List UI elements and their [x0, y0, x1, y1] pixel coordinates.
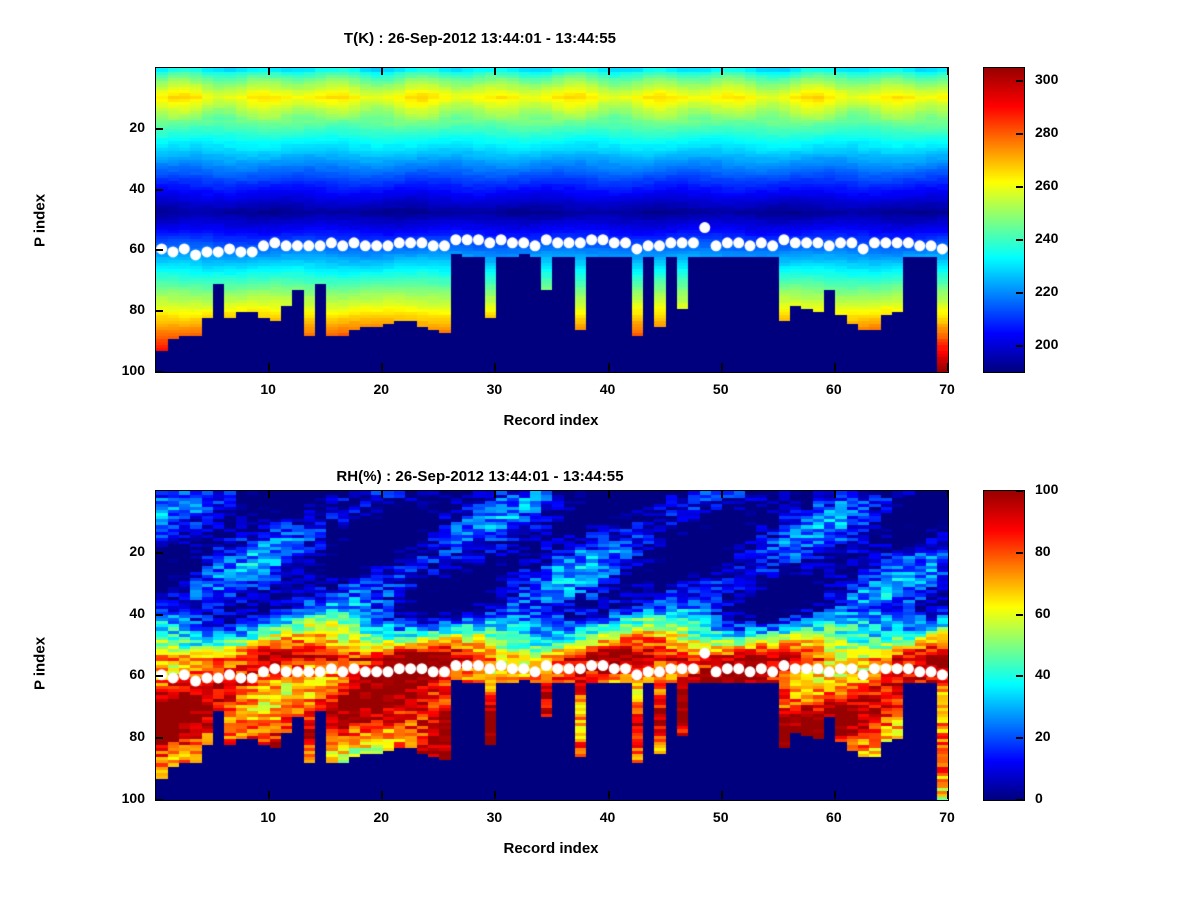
humidity-colorbar-tick-0: 0	[1035, 790, 1043, 806]
temperature-x-tickmark-20	[381, 363, 383, 371]
temperature-y-tickmark-60	[155, 249, 163, 251]
humidity-x-tick-60: 60	[804, 809, 864, 825]
temperature-x-tick-40: 40	[578, 381, 638, 397]
temperature-x-tick-30: 30	[464, 381, 524, 397]
humidity-y-tick-100: 100	[93, 790, 145, 806]
temperature-colorbar-tickmark-220	[1016, 292, 1023, 294]
temperature-x-tickmark-top-50	[721, 67, 723, 75]
temperature-x-tick-60: 60	[804, 381, 864, 397]
humidity-x-tickmark-top-10	[268, 490, 270, 498]
temperature-colorbar-tick-280: 280	[1035, 124, 1058, 140]
temperature-colorbar-tick-260: 260	[1035, 177, 1058, 193]
humidity-y-tickmark-20	[155, 552, 163, 554]
humidity-heatmap-axes[interactable]	[155, 490, 949, 801]
temperature-x-tickmark-60	[834, 363, 836, 371]
temperature-colorbar-gradient	[984, 68, 1024, 372]
temperature-colorbar-tickmark-280	[1016, 133, 1023, 135]
humidity-colorbar-tickmark-60	[1016, 614, 1023, 616]
humidity-x-tickmark-10	[268, 791, 270, 799]
temperature-colorbar-tickmark-200	[1016, 345, 1023, 347]
humidity-colorbar[interactable]	[983, 490, 1025, 801]
humidity-x-tick-40: 40	[578, 809, 638, 825]
humidity-y-tickmark-80	[155, 737, 163, 739]
humidity-colorbar-tick-20: 20	[1035, 728, 1051, 744]
temperature-x-tick-50: 50	[691, 381, 751, 397]
humidity-y-tick-60: 60	[93, 666, 145, 682]
temperature-plot-title: T(K) : 26-Sep-2012 13:44:01 - 13:44:55	[0, 30, 960, 47]
humidity-x-tickmark-top-60	[834, 490, 836, 498]
humidity-y-tickmark-40	[155, 614, 163, 616]
humidity-colorbar-tick-40: 40	[1035, 666, 1051, 682]
humidity-colorbar-tickmark-80	[1016, 552, 1023, 554]
temperature-colorbar-tick-220: 220	[1035, 283, 1058, 299]
humidity-colorbar-tick-100: 100	[1035, 481, 1058, 497]
temperature-colorbar-tickmark-240	[1016, 239, 1023, 241]
temperature-colorbar-tick-200: 200	[1035, 336, 1058, 352]
temperature-colorbar-tickmark-300	[1016, 80, 1023, 82]
temperature-panel: T(K) : 26-Sep-2012 13:44:01 - 13:44:55 P…	[0, 0, 1200, 450]
humidity-x-tick-10: 10	[238, 809, 298, 825]
temperature-x-tickmark-30	[494, 363, 496, 371]
temperature-x-tick-70: 70	[917, 381, 977, 397]
temperature-colorbar[interactable]	[983, 67, 1025, 373]
humidity-colorbar-tickmark-0	[1016, 799, 1023, 801]
humidity-x-tickmark-top-50	[721, 490, 723, 498]
humidity-y-tickmark-100	[155, 799, 163, 801]
temperature-x-tickmark-top-20	[381, 67, 383, 75]
temperature-x-tickmark-40	[608, 363, 610, 371]
humidity-x-tickmark-30	[494, 791, 496, 799]
temperature-y-tickmark-80	[155, 310, 163, 312]
temperature-y-tickmark-20	[155, 128, 163, 130]
temperature-colorbar-tickmark-260	[1016, 186, 1023, 188]
temperature-x-tick-20: 20	[351, 381, 411, 397]
temperature-x-axis-label: Record index	[355, 412, 747, 429]
temperature-y-tickmark-100	[155, 371, 163, 373]
humidity-x-tick-30: 30	[464, 809, 524, 825]
humidity-y-tick-80: 80	[93, 728, 145, 744]
humidity-x-tickmark-50	[721, 791, 723, 799]
temperature-heatmap-canvas	[156, 68, 948, 372]
humidity-y-axis-label: P index	[32, 604, 49, 724]
humidity-x-tickmark-top-40	[608, 490, 610, 498]
temperature-x-tickmark-10	[268, 363, 270, 371]
temperature-y-tick-60: 60	[93, 240, 145, 256]
humidity-heatmap-canvas	[156, 491, 948, 800]
temperature-x-tickmark-top-10	[268, 67, 270, 75]
temperature-colorbar-tick-240: 240	[1035, 230, 1058, 246]
humidity-x-tickmark-20	[381, 791, 383, 799]
humidity-x-tick-20: 20	[351, 809, 411, 825]
humidity-colorbar-tickmark-40	[1016, 675, 1023, 677]
temperature-x-tick-10: 10	[238, 381, 298, 397]
humidity-y-tick-40: 40	[93, 605, 145, 621]
humidity-panel: RH(%) : 26-Sep-2012 13:44:01 - 13:44:55 …	[0, 450, 1200, 900]
temperature-y-tick-20: 20	[93, 119, 145, 135]
temperature-y-tick-100: 100	[93, 362, 145, 378]
temperature-x-tickmark-top-60	[834, 67, 836, 75]
temperature-x-tickmark-top-30	[494, 67, 496, 75]
humidity-x-axis-label: Record index	[355, 840, 747, 857]
humidity-x-tick-50: 50	[691, 809, 751, 825]
humidity-colorbar-tickmark-20	[1016, 737, 1023, 739]
humidity-x-tickmark-40	[608, 791, 610, 799]
temperature-x-tickmark-top-40	[608, 67, 610, 75]
humidity-y-tick-20: 20	[93, 543, 145, 559]
humidity-colorbar-tickmark-100	[1016, 490, 1023, 492]
humidity-x-tickmark-top-70	[947, 490, 949, 498]
humidity-y-tickmark-60	[155, 675, 163, 677]
temperature-y-tick-40: 40	[93, 180, 145, 196]
humidity-x-tick-70: 70	[917, 809, 977, 825]
humidity-colorbar-gradient	[984, 491, 1024, 800]
temperature-x-tickmark-top-70	[947, 67, 949, 75]
humidity-colorbar-tick-80: 80	[1035, 543, 1051, 559]
humidity-colorbar-tick-60: 60	[1035, 605, 1051, 621]
temperature-y-tickmark-40	[155, 189, 163, 191]
temperature-x-tickmark-70	[947, 363, 949, 371]
humidity-x-tickmark-top-30	[494, 490, 496, 498]
humidity-x-tickmark-top-20	[381, 490, 383, 498]
temperature-colorbar-tick-300: 300	[1035, 71, 1058, 87]
temperature-y-tick-80: 80	[93, 301, 145, 317]
temperature-y-axis-label: P index	[32, 161, 49, 281]
humidity-x-tickmark-60	[834, 791, 836, 799]
humidity-x-tickmark-70	[947, 791, 949, 799]
temperature-heatmap-axes[interactable]	[155, 67, 949, 373]
temperature-x-tickmark-50	[721, 363, 723, 371]
humidity-plot-title: RH(%) : 26-Sep-2012 13:44:01 - 13:44:55	[0, 468, 960, 485]
